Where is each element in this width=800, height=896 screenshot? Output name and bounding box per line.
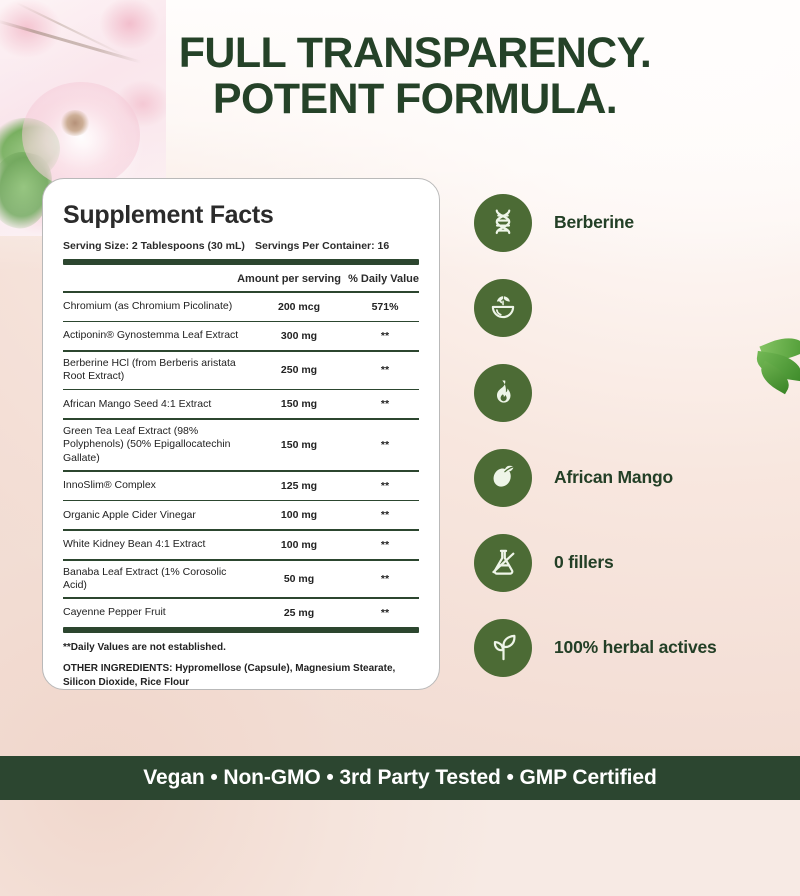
ingredient-name: InnoSlim® Complex <box>63 479 247 492</box>
ingredient-name: Green Tea Leaf Extract (98% Polyphenols)… <box>63 425 247 465</box>
feature-item: 100% herbal actives <box>474 605 794 690</box>
feature-label: Berberine <box>554 212 634 233</box>
ingredient-amount: 300 mg <box>247 330 351 342</box>
ingredient-amount: 150 mg <box>247 439 351 451</box>
ingredient-amount: 100 mg <box>247 539 351 551</box>
ingredient-amount: 125 mg <box>247 480 351 492</box>
column-header-amount: Amount per serving <box>229 273 341 285</box>
column-header-daily-value: % Daily Value <box>341 273 419 285</box>
ingredient-rows: Chromium (as Chromium Picolinate)200 mcg… <box>63 293 419 627</box>
ingredient-name: Berberine HCl (from Berberis aristata Ro… <box>63 357 247 384</box>
ingredient-daily-value: ** <box>351 398 419 410</box>
dna-icon <box>474 194 532 252</box>
leaf-sprout-icon <box>474 619 532 677</box>
other-ingredients: OTHER INGREDIENTS: Hypromellose (Capsule… <box>63 653 419 690</box>
feature-label: 0 fillers <box>554 552 613 573</box>
ingredient-daily-value: ** <box>351 539 419 551</box>
mortar-herbs-icon <box>474 279 532 337</box>
serving-info-row: Serving Size: 2 Tablespoons (30 mL) Serv… <box>63 240 419 259</box>
ingredient-daily-value: 571% <box>351 301 419 313</box>
feature-label: African Mango <box>554 467 673 488</box>
ingredient-name: Organic Apple Cider Vinegar <box>63 509 247 522</box>
flask-no-icon <box>474 534 532 592</box>
feature-list: BerberineAfrican Mango0 fillers100% herb… <box>474 180 794 690</box>
table-row: Banaba Leaf Extract (1% Corosolic Acid)5… <box>63 561 419 598</box>
certification-banner-text: Vegan • Non-GMO • 3rd Party Tested • GMP… <box>143 766 656 790</box>
ingredient-name: Actiponin® Gynostemma Leaf Extract <box>63 329 247 342</box>
ingredient-daily-value: ** <box>351 607 419 619</box>
ingredient-amount: 50 mg <box>247 573 351 585</box>
daily-value-footnote: **Daily Values are not established. <box>63 633 419 653</box>
feature-label: 100% herbal actives <box>554 637 717 658</box>
feature-item <box>474 350 794 435</box>
table-row: InnoSlim® Complex125 mg** <box>63 472 419 500</box>
table-row: African Mango Seed 4:1 Extract150 mg** <box>63 390 419 418</box>
table-row: Berberine HCl (from Berberis aristata Ro… <box>63 352 419 389</box>
table-row: Green Tea Leaf Extract (98% Polyphenols)… <box>63 420 419 470</box>
table-row: White Kidney Bean 4:1 Extract100 mg** <box>63 531 419 559</box>
certification-banner: Vegan • Non-GMO • 3rd Party Tested • GMP… <box>0 756 800 800</box>
ingredient-daily-value: ** <box>351 330 419 342</box>
mango-icon <box>474 449 532 507</box>
ingredient-name: Chromium (as Chromium Picolinate) <box>63 300 247 313</box>
ingredient-daily-value: ** <box>351 573 419 585</box>
table-row: Cayenne Pepper Fruit25 mg** <box>63 599 419 627</box>
ingredient-name: White Kidney Bean 4:1 Extract <box>63 538 247 551</box>
table-column-headers: Amount per serving % Daily Value <box>63 265 419 291</box>
headline: FULL TRANSPARENCY. POTENT FORMULA. <box>150 30 680 123</box>
ingredient-name: African Mango Seed 4:1 Extract <box>63 398 247 411</box>
feature-item: 0 fillers <box>474 520 794 605</box>
ingredient-amount: 150 mg <box>247 398 351 410</box>
supplement-facts-title: Supplement Facts <box>63 201 419 230</box>
feature-item: African Mango <box>474 435 794 520</box>
supplement-facts-card: Supplement Facts Serving Size: 2 Tablesp… <box>42 178 440 690</box>
headline-line-2: POTENT FORMULA. <box>150 76 680 122</box>
ingredient-name: Banaba Leaf Extract (1% Corosolic Acid) <box>63 566 247 593</box>
ingredient-amount: 25 mg <box>247 607 351 619</box>
servings-per-container: Servings Per Container: 16 <box>255 240 389 252</box>
table-row: Organic Apple Cider Vinegar100 mg** <box>63 501 419 529</box>
ingredient-amount: 200 mcg <box>247 301 351 313</box>
ingredient-name: Cayenne Pepper Fruit <box>63 606 247 619</box>
table-row: Actiponin® Gynostemma Leaf Extract300 mg… <box>63 322 419 350</box>
ingredient-daily-value: ** <box>351 364 419 376</box>
ingredient-amount: 250 mg <box>247 364 351 376</box>
ingredient-amount: 100 mg <box>247 509 351 521</box>
headline-line-1: FULL TRANSPARENCY. <box>150 30 680 76</box>
flame-icon <box>474 364 532 422</box>
feature-item: Berberine <box>474 180 794 265</box>
ingredient-daily-value: ** <box>351 480 419 492</box>
table-row: Chromium (as Chromium Picolinate)200 mcg… <box>63 293 419 321</box>
ingredient-daily-value: ** <box>351 439 419 451</box>
ingredient-daily-value: ** <box>351 509 419 521</box>
feature-item <box>474 265 794 350</box>
serving-size: Serving Size: 2 Tablespoons (30 mL) <box>63 240 255 252</box>
